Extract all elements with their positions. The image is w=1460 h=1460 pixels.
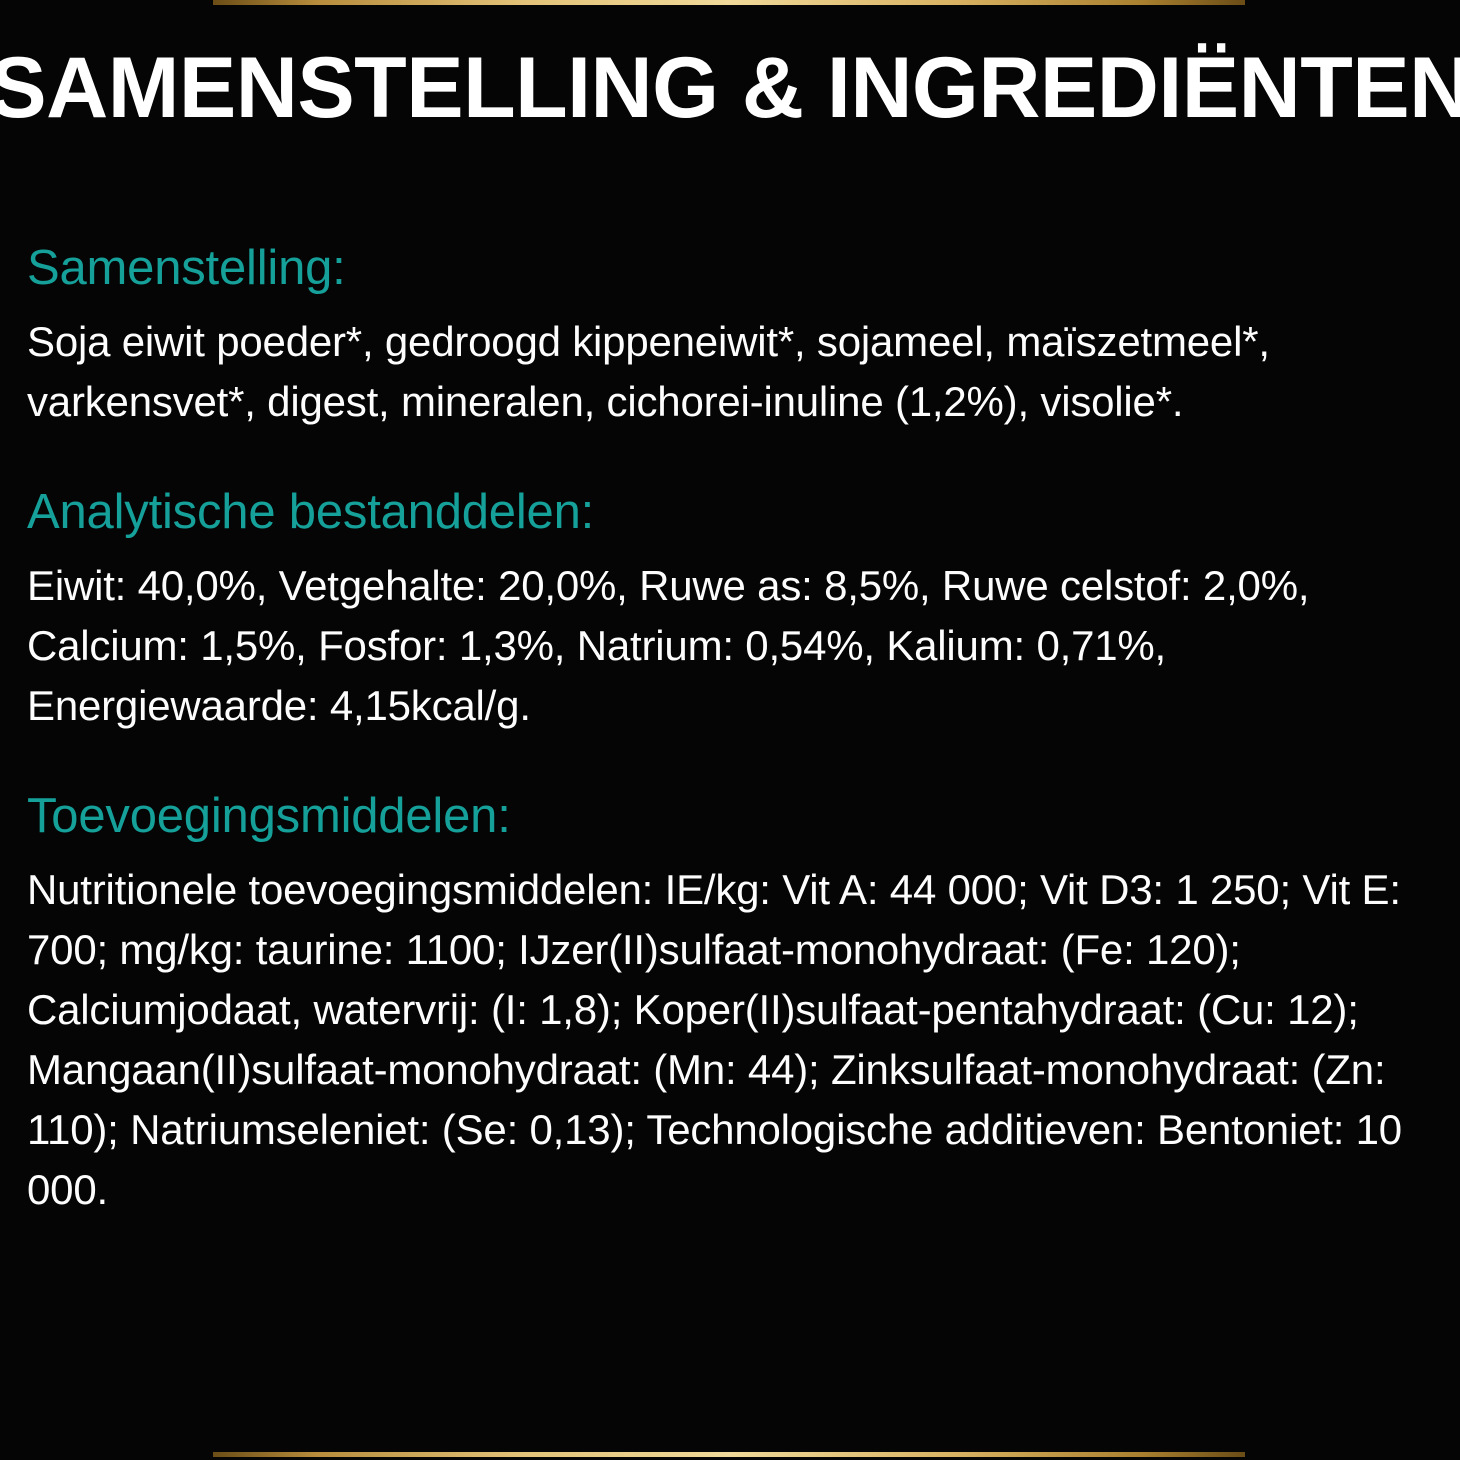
- page-title: SAMENSTELLING & INGREDIËNTEN: [0, 45, 1460, 131]
- section-analytische-bestanddelen: Analytische bestanddelen: Eiwit: 40,0%, …: [27, 484, 1447, 736]
- section-body-analytische-bestanddelen: Eiwit: 40,0%, Vetgehalte: 20,0%, Ruwe as…: [27, 556, 1427, 736]
- composition-ingredients-panel: SAMENSTELLING & INGREDIËNTEN Samenstelli…: [0, 0, 1460, 1460]
- section-heading-samenstelling: Samenstelling:: [27, 240, 1447, 298]
- gold-divider-top: [213, 0, 1245, 5]
- section-body-toevoegingsmiddelen: Nutritionele toevoegingsmiddelen: IE/kg:…: [27, 860, 1427, 1220]
- section-heading-toevoegingsmiddelen: Toevoegingsmiddelen:: [27, 788, 1447, 846]
- section-body-samenstelling: Soja eiwit poeder*, gedroogd kippeneiwit…: [27, 312, 1372, 432]
- gold-divider-bottom: [213, 1452, 1245, 1457]
- content-column: Samenstelling: Soja eiwit poeder*, gedro…: [27, 240, 1447, 1220]
- section-heading-analytische-bestanddelen: Analytische bestanddelen:: [27, 484, 1447, 542]
- section-samenstelling: Samenstelling: Soja eiwit poeder*, gedro…: [27, 240, 1447, 432]
- section-toevoegingsmiddelen: Toevoegingsmiddelen: Nutritionele toevoe…: [27, 788, 1447, 1220]
